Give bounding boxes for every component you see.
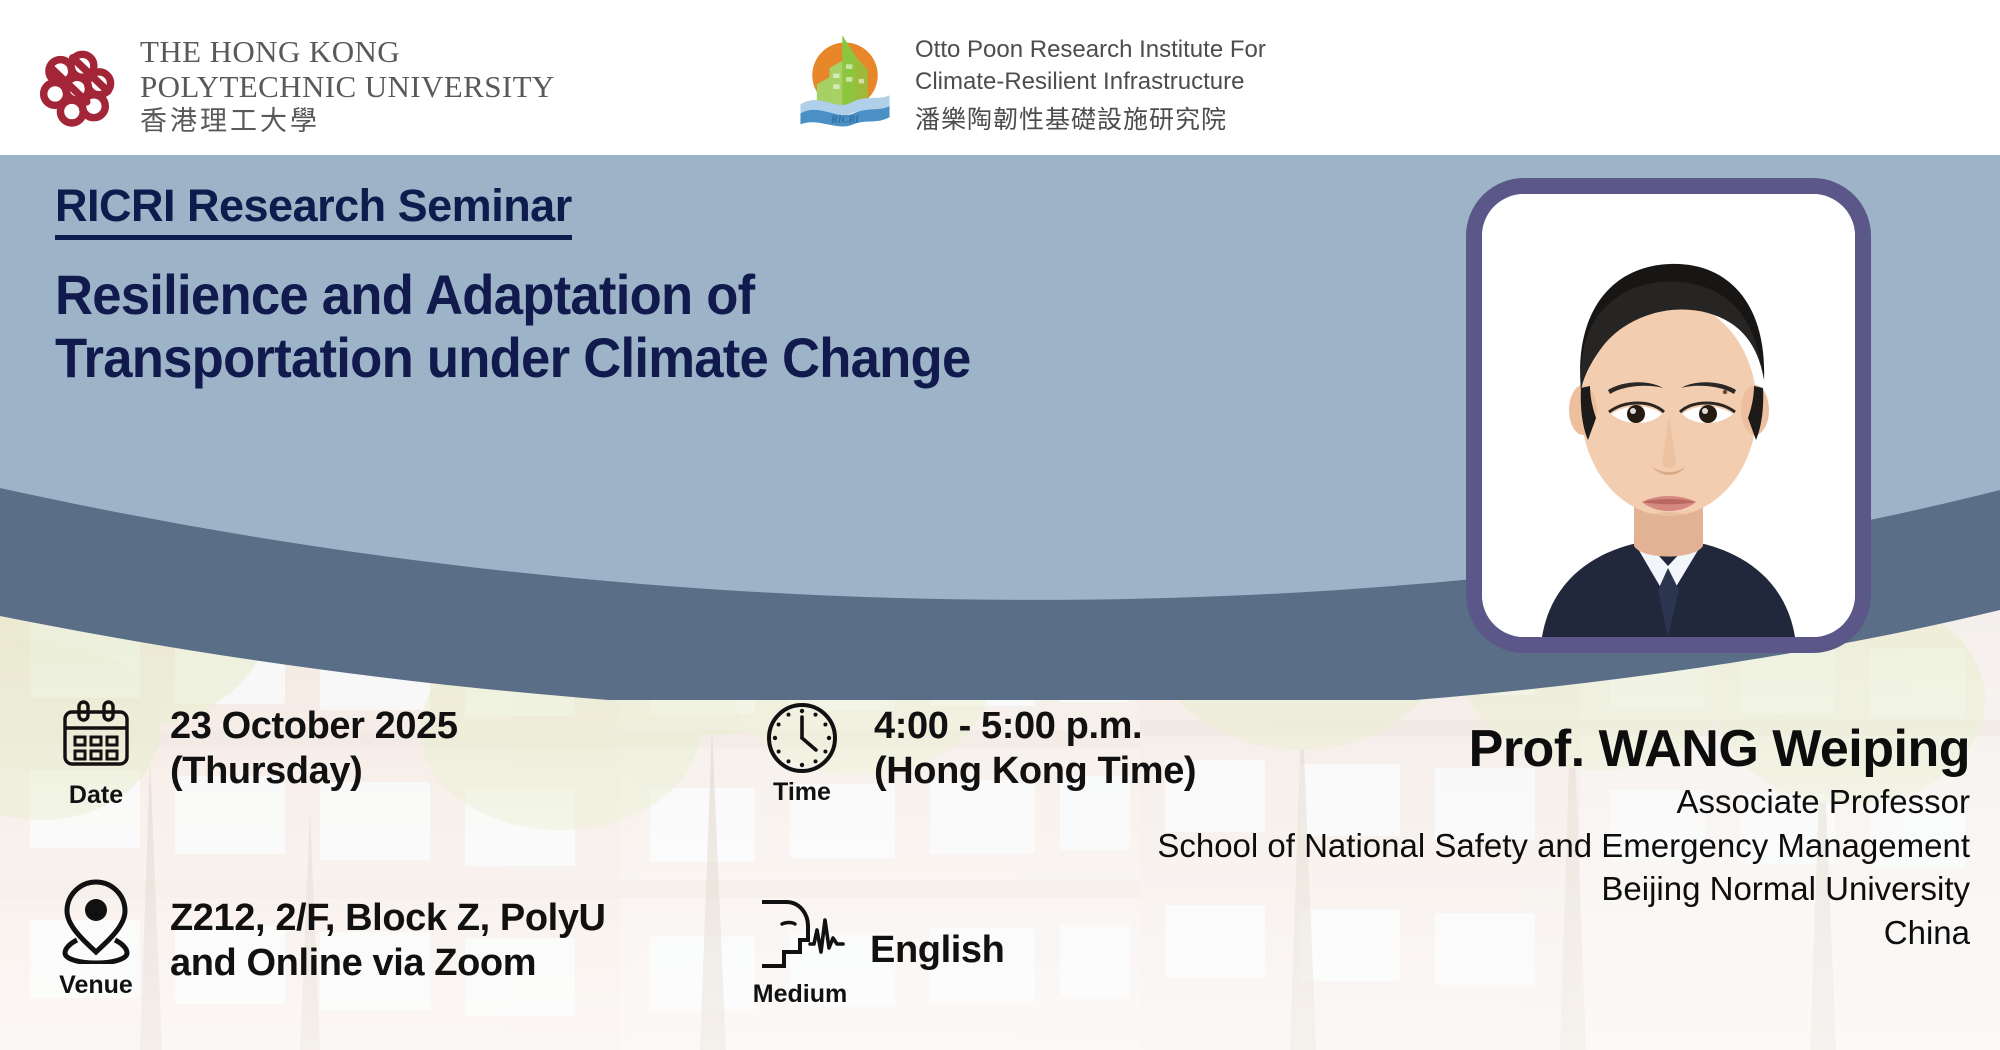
ricri-building-sun-wave-logo-icon: RICRI [795,28,895,128]
seminar-title-line1: Resilience and Adaptation of [55,264,970,327]
calendar-icon [59,700,133,774]
polyu-name-line2: POLYTECHNIC UNIVERSITY [140,71,555,102]
polyu-logo: THE HONG KONG POLYTECHNIC UNIVERSITY 香港理… [34,36,555,135]
detail-value-date: 23 October 2025 (Thursday) [170,704,458,794]
speaking-head-icon [754,898,846,978]
polyu-name-chinese: 香港理工大學 [140,108,555,135]
speaker-country: China [1157,913,1970,953]
detail-icon-group-date: Date [44,700,148,810]
polyu-knot-logo-icon [34,42,122,130]
speaker-portrait-photo [1482,194,1855,637]
detail-value-venue: Z212, 2/F, Block Z, PolyU and Online via… [170,896,606,986]
seminar-poster: THE HONG KONG POLYTECHNIC UNIVERSITY 香港理… [0,0,2000,1050]
speaker-university: Beijing Normal University [1157,869,1970,909]
location-pin-icon [60,878,132,964]
detail-value-time-line2: (Hong Kong Time) [874,749,1196,794]
detail-value-date-line2: (Thursday) [170,749,458,794]
detail-value-venue-line1: Z212, 2/F, Block Z, PolyU [170,896,606,941]
detail-row-medium: Medium English [748,898,1004,1009]
detail-label-venue: Venue [59,971,133,1000]
clock-icon [764,700,840,776]
detail-label-time: Time [773,778,831,807]
speaker-portrait-frame [1466,178,1871,653]
seminar-title-line2: Transportation under Climate Change [55,327,970,390]
detail-value-time-line1: 4:00 - 5:00 p.m. [874,704,1196,749]
detail-value-medium: English [870,928,1004,973]
detail-label-medium: Medium [753,980,847,1009]
polyu-name-line1: THE HONG KONG [140,36,555,67]
speaker-info: Prof. WANG Weiping Associate Professor S… [1157,720,1970,953]
detail-row-date: Date 23 October 2025 (Thursday) [44,700,458,810]
detail-icon-group-venue: Venue [44,878,148,1000]
detail-value-medium-line1: English [870,928,1004,973]
detail-value-venue-line2: and Online via Zoom [170,941,606,986]
ricri-name-line2: Climate-Resilient Infrastructure [915,66,1266,98]
seminar-title: Resilience and Adaptation of Transportat… [55,264,970,389]
speaker-title: Associate Professor [1157,782,1970,822]
ricri-logo-mark-text: RICRI [830,115,860,126]
ricri-logo: RICRI Otto Poon Research Institute For C… [795,28,1266,136]
ricri-name-chinese: 潘樂陶韌性基礎設施研究院 [915,100,1266,136]
detail-icon-group-medium: Medium [748,898,852,1009]
detail-icon-group-time: Time [750,700,854,807]
detail-value-date-line1: 23 October 2025 [170,704,458,749]
detail-label-date: Date [69,781,123,810]
hero-headline: RICRI Research Seminar Resilience and Ad… [55,180,1029,389]
seminar-kicker: RICRI Research Seminar [55,180,572,240]
poster-header: THE HONG KONG POLYTECHNIC UNIVERSITY 香港理… [0,0,2000,155]
detail-row-time: Time 4:00 - 5:00 p.m. (Hong Kong Time) [750,700,1196,807]
detail-value-time: 4:00 - 5:00 p.m. (Hong Kong Time) [874,704,1196,794]
detail-row-venue: Venue Z212, 2/F, Block Z, PolyU and Onli… [44,878,606,1000]
speaker-name: Prof. WANG Weiping [1157,720,1970,778]
ricri-name-line1: Otto Poon Research Institute For [915,34,1266,66]
speaker-school: School of National Safety and Emergency … [1157,826,1970,866]
